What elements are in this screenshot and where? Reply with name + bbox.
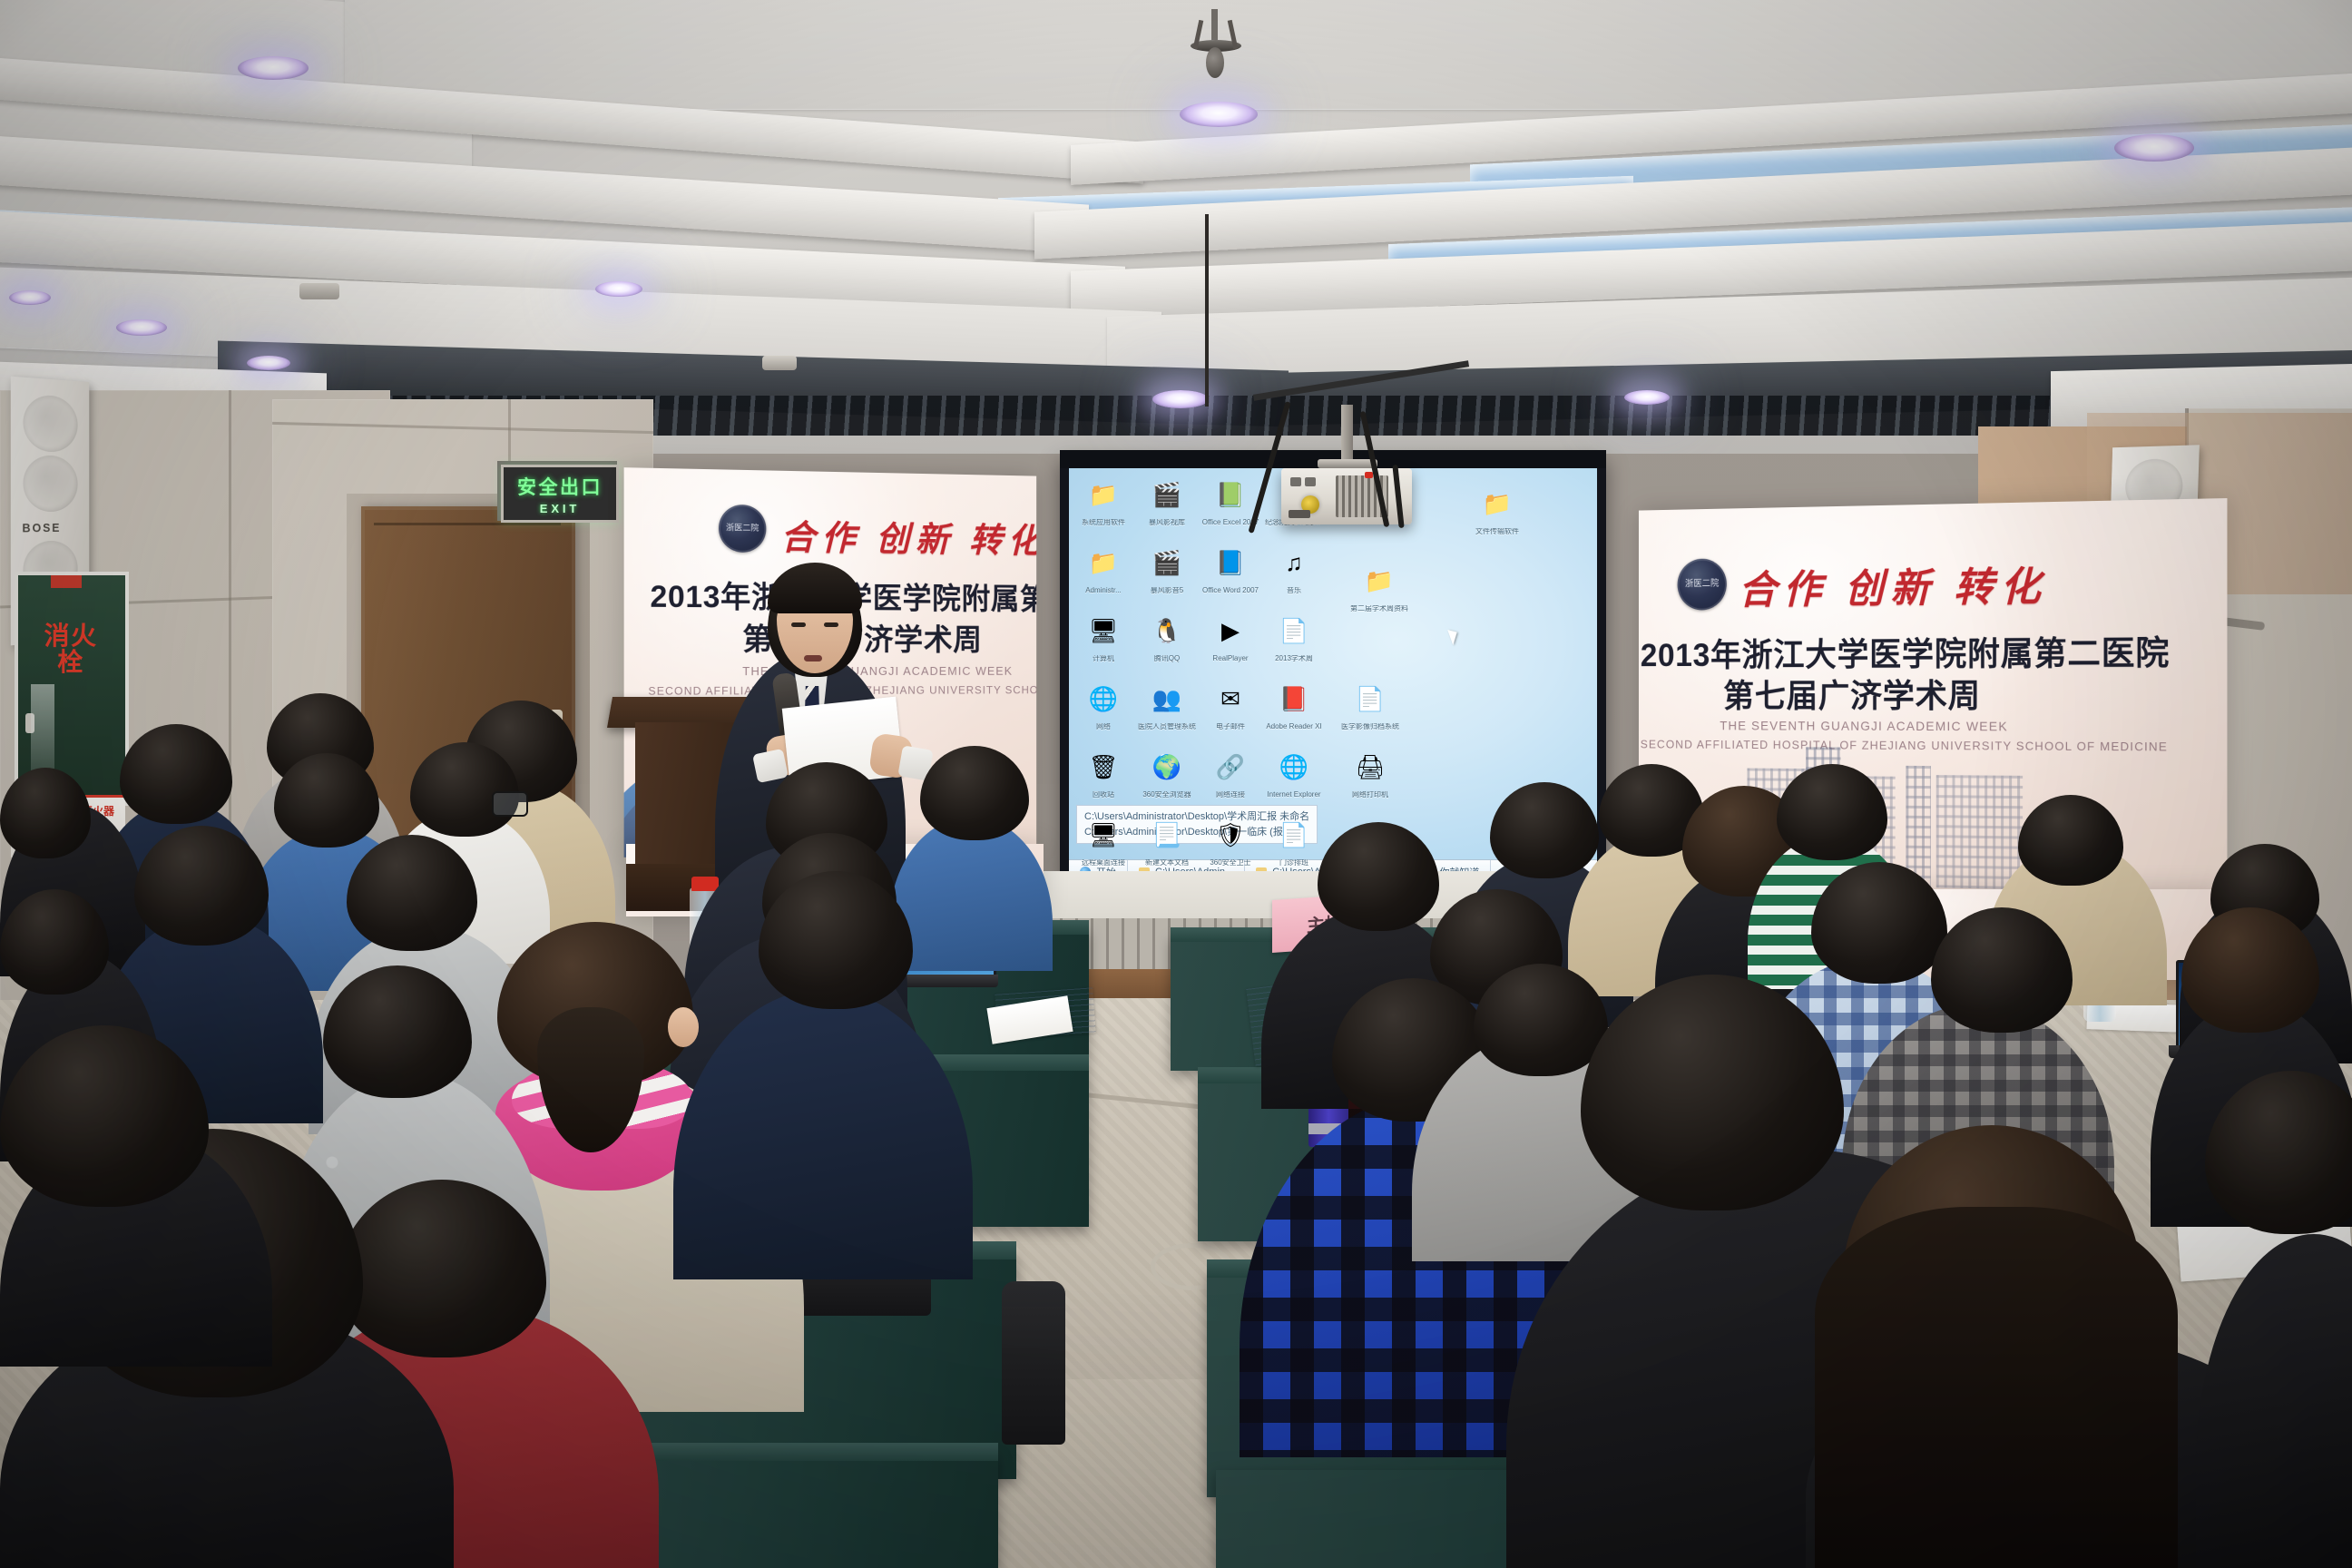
door-panel-line xyxy=(374,523,561,525)
desktop-icon[interactable]: 🗑回收站 xyxy=(1074,744,1132,799)
sprinkler-stem xyxy=(1211,9,1218,40)
desktop-icon[interactable]: 📁Administr... xyxy=(1074,540,1132,594)
desktop-icon[interactable]: 📄2013学术周 xyxy=(1265,608,1323,662)
desktop-icon-label: 文件传输软件 xyxy=(1468,528,1526,535)
projector-port xyxy=(1290,477,1301,486)
bose-logo: BOSE xyxy=(22,521,61,534)
photo-scene: BOSE BOSE 消火栓 正确使用灭火器 安全出口 EXIT 浙医二院 xyxy=(0,0,2352,1568)
desktop-icon-label: 2013学术周 xyxy=(1265,655,1323,662)
printer-icon: 🖨 xyxy=(1346,744,1395,789)
pdf-icon: 📄 xyxy=(1269,608,1318,653)
txt-icon: 📃 xyxy=(1142,812,1191,857)
hospital-emblem: 浙医二院 xyxy=(719,505,766,553)
desktop-icon[interactable]: 🛡360安全卫士 xyxy=(1201,812,1259,867)
downlight xyxy=(9,290,51,305)
word-icon: 📘 xyxy=(1206,540,1255,585)
projector-mount-plate xyxy=(1318,459,1377,468)
banner-title-line1: 2013年浙江大学医学院附属第二医院 xyxy=(1641,626,2170,676)
desktop-icon-label: Internet Explorer xyxy=(1265,791,1323,799)
network-icon: 🌐 xyxy=(1079,676,1128,721)
folder-icon: 📁 xyxy=(1079,540,1128,585)
desktop-icon[interactable]: ♫音乐 xyxy=(1265,540,1323,594)
attendee-ear xyxy=(668,1007,699,1047)
banner-subtitle-en2: SECOND AFFILIATED HOSPITAL OF ZHEJIANG U… xyxy=(1641,738,2168,754)
desktop-icon-label: Office Word 2007 xyxy=(1201,587,1259,594)
projector-port xyxy=(1305,477,1316,486)
hospital-emblem: 浙医二院 xyxy=(1678,558,1727,610)
desktop-icon[interactable]: 🔗网络连接 xyxy=(1201,744,1259,799)
desktop-icon-label: 门诊排班 xyxy=(1265,859,1323,867)
desktop-icon[interactable]: 📕Adobe Reader XI xyxy=(1265,676,1323,730)
ceiling-projector xyxy=(1281,468,1412,524)
desktop-icon[interactable]: ▶RealPlayer xyxy=(1201,608,1259,662)
media-icon: 🎬 xyxy=(1142,540,1191,585)
speaker-driver xyxy=(23,394,77,453)
downlight xyxy=(1180,102,1258,127)
link-icon: 🔗 xyxy=(1206,744,1255,789)
desktop-icon-label: 第二届学术周资料 xyxy=(1350,605,1408,612)
ie-icon: 🌐 xyxy=(1269,744,1318,789)
downlight xyxy=(595,281,642,297)
desktop-icon[interactable]: 🎬暴风影视库 xyxy=(1138,472,1196,526)
doc-icon: 📄 xyxy=(1346,676,1395,721)
desktop-icon-label: 网络连接 xyxy=(1201,791,1259,799)
desktop-icon[interactable]: 📗Office Excel 2007 xyxy=(1201,472,1259,526)
downlight xyxy=(116,319,167,336)
folder-icon: 📁 xyxy=(1079,472,1128,517)
media-icon: 🎬 xyxy=(1142,472,1191,517)
desktop-icon[interactable]: 👥医院人员管理系统 xyxy=(1138,676,1196,730)
computer-icon: 🖥 xyxy=(1079,608,1128,653)
bottle-cap xyxy=(691,877,719,891)
mail-icon: ✉ xyxy=(1206,676,1255,721)
folder-icon: 📁 xyxy=(1355,558,1404,603)
ceiling-sensor xyxy=(762,356,797,370)
desktop-icon-label: 计算机 xyxy=(1074,655,1132,662)
doc-icon: 📄 xyxy=(1269,812,1318,857)
desktop-icon[interactable]: 🖨网络打印机 xyxy=(1341,744,1399,799)
desktop-icon-label: 腾讯QQ xyxy=(1138,655,1196,662)
browser-icon: 🌍 xyxy=(1142,744,1191,789)
projector-mount-pole xyxy=(1341,405,1353,463)
desktop-icon-label: 音乐 xyxy=(1265,587,1323,594)
shield-icon: 🛡 xyxy=(1206,812,1255,857)
desktop-icon[interactable]: 🐧腾讯QQ xyxy=(1138,608,1196,662)
player-icon: ▶ xyxy=(1206,608,1255,653)
desktop-icon[interactable]: 🌐Internet Explorer xyxy=(1265,744,1323,799)
banner-building-art xyxy=(1936,775,2023,889)
cabinet-label: 消火栓 xyxy=(34,622,107,676)
desktop-icon-label: 新建文本文档 xyxy=(1138,859,1196,867)
desktop-icon-label: 医院人员管理系统 xyxy=(1138,723,1196,730)
presenter-eye xyxy=(791,622,806,627)
banner-title-line2: 第七届广济学术周 xyxy=(1723,670,1981,717)
projector-port xyxy=(1289,510,1310,518)
desktop-icon-label: 电子邮件 xyxy=(1201,723,1259,730)
desktop-icon-label: 暴风影音5 xyxy=(1138,587,1196,594)
presenter-mouth xyxy=(804,655,822,661)
desktop-icon[interactable]: 📃新建文本文档 xyxy=(1138,812,1196,867)
recycle-icon: 🗑 xyxy=(1079,744,1128,789)
desktop-icon-label: 360安全浏览器 xyxy=(1138,791,1196,799)
banner-subtitle-en1: THE SEVENTH GUANGJI ACADEMIC WEEK xyxy=(1720,719,2008,734)
desktop-icon[interactable]: 🖥远程桌面连接 xyxy=(1074,812,1132,867)
desktop-icon-label: 网络打印机 xyxy=(1341,791,1399,799)
desktop-icon-label: Adobe Reader XI xyxy=(1265,723,1323,730)
desktop-icon-label: 暴风影视库 xyxy=(1138,519,1196,526)
eyeglasses xyxy=(492,791,528,817)
remote-icon: 🖥 xyxy=(1079,812,1128,857)
exit-sign: 安全出口 EXIT xyxy=(501,465,619,523)
speaker-driver xyxy=(23,455,77,512)
desktop-icon[interactable]: 🖥计算机 xyxy=(1074,608,1132,662)
desktop-icon[interactable]: 📄医学影像归档系统 xyxy=(1341,676,1399,730)
desktop-icon-label: 360安全卫士 xyxy=(1201,859,1259,867)
people-icon: 👥 xyxy=(1142,676,1191,721)
desktop-icon-label: 远程桌面连接 xyxy=(1074,859,1132,867)
banner-calligraphy: 合作 创新 转化 xyxy=(780,509,1036,563)
desktop-icon-label: 网络 xyxy=(1074,723,1132,730)
desktop-icon[interactable]: 📁第二届学术周资料 xyxy=(1350,558,1408,612)
ceiling-sensor xyxy=(299,283,339,299)
desktop-icon[interactable]: 🎬暴风影音5 xyxy=(1138,540,1196,594)
desktop-icon-label: RealPlayer xyxy=(1201,655,1259,662)
qq-icon: 🐧 xyxy=(1142,608,1191,653)
desktop-icon[interactable]: 🌍360安全浏览器 xyxy=(1138,744,1196,799)
desktop-icon-label: 系统应用软件 xyxy=(1074,519,1132,526)
chair[interactable] xyxy=(1002,1281,1065,1445)
attendee-long-hair xyxy=(1815,1207,2178,1568)
downlight xyxy=(247,356,290,370)
ceiling xyxy=(0,0,2352,454)
banner-calligraphy: 合作 创新 转化 xyxy=(1739,554,2048,615)
excel-icon: 📗 xyxy=(1206,472,1255,517)
mouse-cursor xyxy=(1447,627,1461,645)
downlight xyxy=(238,56,309,80)
folder-icon: 📁 xyxy=(1473,481,1522,526)
desktop-icon[interactable]: 📘Office Word 2007 xyxy=(1201,540,1259,594)
downlight xyxy=(1624,390,1670,405)
presenter-eye xyxy=(824,622,838,627)
desktop-icon[interactable]: 🌐网络 xyxy=(1074,676,1132,730)
cabinet-indicator xyxy=(51,573,82,588)
desktop-icon[interactable]: 📄门诊排班 xyxy=(1265,812,1323,867)
exit-sign-english: EXIT xyxy=(540,502,581,515)
downlight xyxy=(1152,390,1209,408)
sprinkler-head xyxy=(1206,47,1224,78)
desktop-icon-label: 医学影像归档系统 xyxy=(1341,723,1399,730)
music-icon: ♫ xyxy=(1269,540,1318,585)
desktop-icon[interactable]: 📁系统应用软件 xyxy=(1074,472,1132,526)
exit-sign-chinese: 安全出口 xyxy=(517,473,603,500)
desktop-icon[interactable]: 📁文件传输软件 xyxy=(1468,481,1526,535)
desktop-icon-label: Administr... xyxy=(1074,587,1132,594)
projector-indicator xyxy=(1365,472,1373,478)
downlight xyxy=(2114,134,2194,162)
emblem-text: 浙医二院 xyxy=(726,524,759,533)
desktop-icon-label: 回收站 xyxy=(1074,791,1132,799)
emblem-text: 浙医二院 xyxy=(1685,580,1719,590)
projector-drop-cable xyxy=(1205,214,1209,407)
desktop-icon[interactable]: ✉电子邮件 xyxy=(1201,676,1259,730)
acrobat-icon: 📕 xyxy=(1269,676,1318,721)
